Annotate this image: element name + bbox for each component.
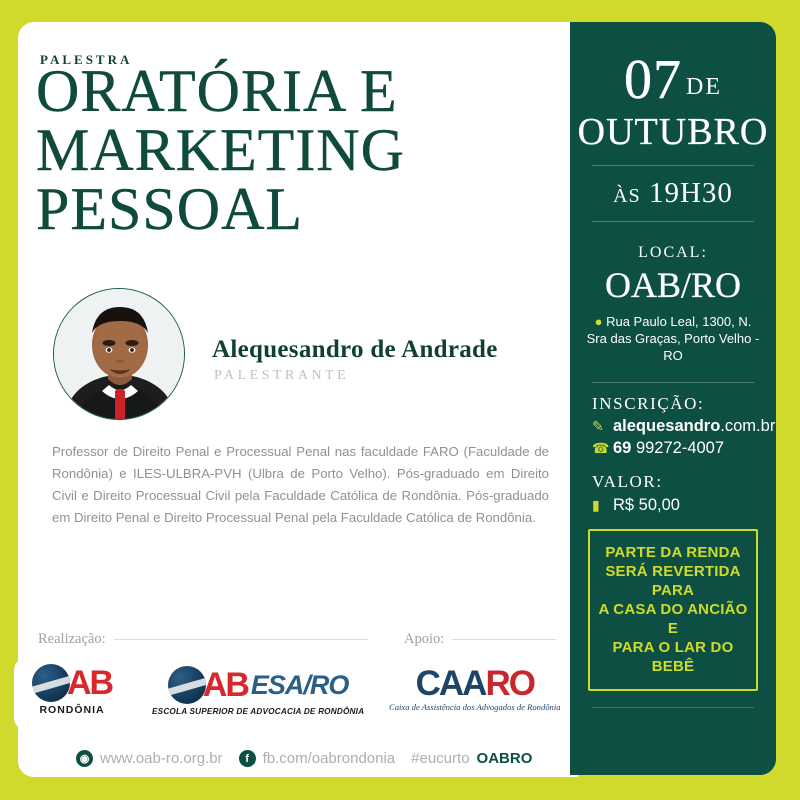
realizacao-rule [114, 639, 368, 640]
hashtag-item: #eucurtoOABRO [411, 750, 532, 767]
map-pin-icon: ● [595, 314, 603, 329]
credits-row: Realização: Apoio: [38, 631, 553, 653]
website-item[interactable]: ◉ www.oab-ro.org.br [76, 750, 223, 767]
divider-2 [592, 221, 754, 222]
title-line-3: PESSOAL [36, 180, 556, 239]
valor-label: VALOR: [592, 472, 776, 492]
caaro-subtitle: Caixa de Assistência dos Advogados de Ro… [389, 702, 561, 712]
divider-3 [592, 382, 754, 383]
email-rest: .com.br [720, 417, 775, 435]
website-text: www.oab-ro.org.br [100, 750, 223, 767]
oab-mark: AB [32, 664, 112, 702]
logo-strip: AB RONDÔNIA AB ESA/RO ESCOLA SUPERIOR DE… [14, 658, 576, 730]
realizacao-block: Realização: [38, 631, 368, 648]
page-title: ORATÓRIA E MARKETING PESSOAL [36, 62, 556, 238]
apoio-rule [452, 639, 556, 640]
facebook-text: fb.com/oabrondonia [263, 750, 396, 767]
event-address: ● Rua Paulo Leal, 1300, N. Sra das Graça… [584, 313, 762, 364]
oab-rondonia-subtitle: RONDÔNIA [39, 704, 104, 716]
charity-notice-box: PARTE DA RENDA SERÁ REVERTIDA PARA A CAS… [588, 529, 758, 691]
title-line-2: MARKETING [36, 121, 556, 180]
charity-line-3: A CASA DO ANCIÃO E [596, 600, 750, 638]
realizacao-label: Realização: [38, 631, 106, 648]
esaro-globe-icon [168, 666, 206, 704]
divider-1 [592, 165, 754, 166]
charity-line-4: PARA O LAR DO BEBÊ [596, 638, 750, 676]
poster-canvas: PALESTRA ORATÓRIA E MARKETING PESSOAL [0, 0, 800, 800]
email-bold: alequesandro [613, 417, 720, 435]
esaro-mark: AB ESA/RO [168, 666, 349, 704]
phone-row[interactable]: ☎ 69 99272-4007 [592, 439, 776, 458]
email-row[interactable]: ✎ alequesandro.com.br [592, 417, 776, 436]
valor-row: ▮ R$ 50,00 [592, 496, 776, 515]
bottom-contact-bar: ◉ www.oab-ro.org.br f fb.com/oabrondonia… [18, 740, 578, 777]
money-icon: ▮ [592, 497, 607, 514]
esaro-word: ESA/RO [251, 672, 349, 699]
divider-4 [592, 707, 754, 708]
charity-line-2: SERÁ REVERTIDA PARA [596, 562, 750, 600]
speaker-role: PALESTRANTE [214, 368, 349, 384]
hashtag-light: #eucurto [411, 750, 469, 767]
charity-line-1: PARTE DA RENDA [596, 543, 750, 562]
event-day: 07 [624, 49, 682, 111]
facebook-icon: f [239, 750, 256, 767]
oab-globe-icon [32, 664, 70, 702]
event-time-prefix: ÀS [613, 185, 641, 207]
event-de-word: DE [686, 74, 722, 100]
globe-icon: ◉ [76, 750, 93, 767]
event-time: 19H30 [649, 177, 733, 209]
caaro-word-dark: CAA [416, 664, 486, 703]
event-month: OUTUBRO [570, 110, 776, 154]
inscricao-label: INSCRIÇÃO: [592, 394, 776, 414]
oab-ab-letters: AB [67, 666, 112, 700]
logo-oab-esaro: AB ESA/RO ESCOLA SUPERIOR DE ADVOCACIA D… [152, 666, 364, 716]
event-time-line: ÀS 19H30 [570, 177, 776, 210]
avatar [53, 288, 185, 420]
facebook-item[interactable]: f fb.com/oabrondonia [239, 750, 396, 767]
event-details-panel: 07 DE OUTUBRO ÀS 19H30 LOCAL: OAB/RO ● R… [570, 22, 776, 775]
esaro-ab-letters: AB [203, 668, 248, 702]
caaro-wordmark: CAARO [416, 666, 534, 701]
esaro-subtitle: ESCOLA SUPERIOR DE ADVOCACIA DE RONDÔNIA [152, 707, 364, 716]
phone-rest: 99272-4007 [636, 439, 724, 457]
event-date-line: 07 DE [570, 52, 776, 108]
speaker-portrait-icon [54, 289, 185, 420]
caaro-word-red: RO [485, 664, 534, 703]
phone-icon: ☎ [592, 440, 607, 457]
logo-oab-rondonia: AB RONDÔNIA [32, 664, 112, 716]
logo-caaro: CAARO Caixa de Assistência dos Advogados… [389, 666, 561, 712]
hashtag-bold: OABRO [477, 750, 533, 767]
valor-value: R$ 50,00 [613, 496, 680, 515]
phone-bold: 69 [613, 439, 631, 457]
apoio-label: Apoio: [404, 631, 444, 648]
title-line-1: ORATÓRIA E [36, 62, 556, 121]
email-icon: ✎ [592, 418, 607, 435]
speaker-name: Alequesandro de Andrade [212, 336, 552, 364]
local-label: LOCAL: [570, 244, 776, 262]
apoio-block: Apoio: [404, 631, 556, 648]
local-value: OAB/RO [570, 264, 776, 306]
address-text: Rua Paulo Leal, 1300, N. Sra das Graças,… [587, 314, 760, 363]
speaker-bio: Professor de Direito Penal e Processual … [52, 441, 549, 529]
